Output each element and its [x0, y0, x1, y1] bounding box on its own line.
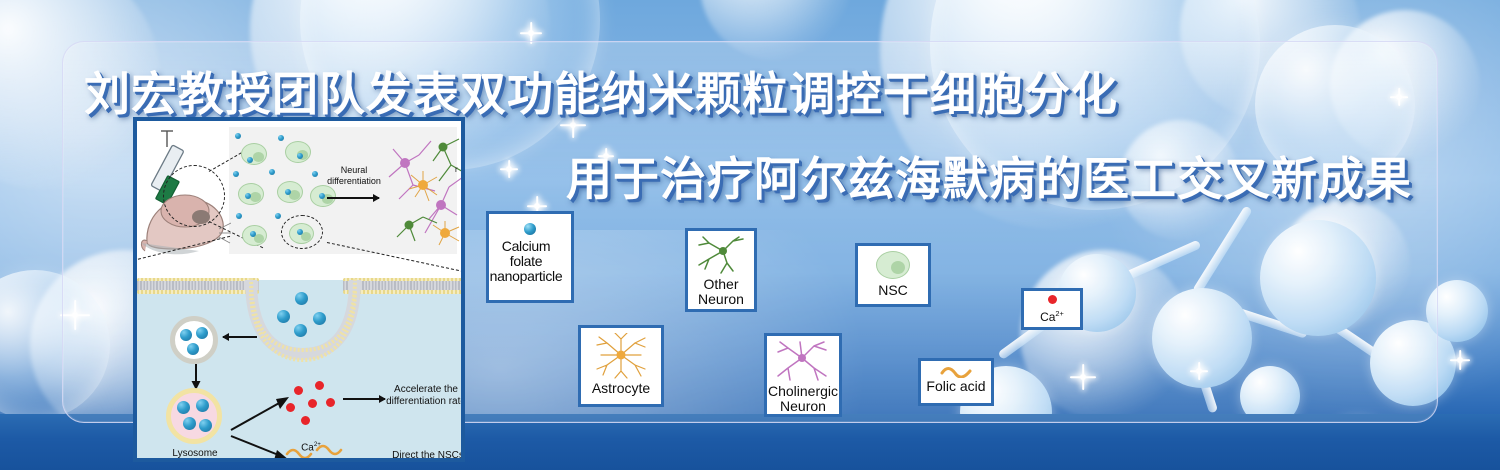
zoom-circle-cell [281, 215, 323, 249]
figure-panel-letter: r [455, 165, 458, 175]
accelerate-arrow [343, 398, 385, 400]
legend-item-calcium-ion[interactable]: Ca2+ [1021, 288, 1083, 330]
headline-line-1: 刘宏教授团队发表双功能纳米颗粒调控干细胞分化 [84, 58, 1118, 124]
legend-label: Folic acid [926, 379, 985, 394]
legend-item-other-neuron[interactable]: Other Neuron [685, 228, 757, 312]
legend-label-text: Ca [1040, 310, 1055, 324]
lysosome-label: Lysosome (pH<5.5) [153, 448, 237, 462]
maturation-arrow [190, 364, 202, 390]
legend-label-sup: 2+ [1055, 309, 1063, 318]
purple-neuron-icon [774, 340, 832, 382]
legend-label: Astrocyte [592, 381, 650, 396]
zoom-circle-head [163, 165, 225, 227]
nanoparticle-sphere-icon [524, 223, 536, 235]
green-neuron-icon [693, 235, 749, 275]
legend-label: Ca2+ [1040, 306, 1064, 325]
legend-label: Other Neuron [698, 277, 744, 307]
folic-acid-squiggle-icon [939, 366, 973, 378]
accelerate-label: Accelerate the differentiation rate [385, 384, 465, 408]
legend-item-calcium-folate-nanoparticle[interactable]: Calcium folate nanoparticle [486, 211, 574, 303]
legend-item-astrocyte[interactable]: Astrocyte [578, 325, 664, 407]
figure-bottom-panel: Lysosome (pH<5.5) Ca2+ [137, 258, 461, 458]
lysosome [166, 388, 222, 444]
neural-stem-cell-icon [876, 251, 910, 279]
headline-line-2: 用于治疗阿尔兹海默病的医工交叉新成果 [566, 143, 1412, 209]
red-dot-icon [1048, 295, 1057, 304]
legend-item-nsc[interactable]: NSC [855, 243, 931, 307]
legend-item-folic-acid[interactable]: Folic acid [918, 358, 994, 406]
endocytosis-arrow [223, 336, 257, 338]
figure-top-panel: Neural differentiation [137, 121, 461, 258]
legend-item-cholinergic-neuron[interactable]: Cholinergic Neuron [764, 333, 842, 417]
plasma-membrane-right [343, 278, 465, 294]
legend-label: NSC [878, 283, 908, 298]
membrane-invagination [245, 276, 361, 362]
plasma-membrane-left [137, 278, 259, 294]
legend-label: Cholinergic Neuron [768, 384, 838, 414]
direct-label: Direct the NSCs to cholinergic neurons [387, 450, 465, 462]
endosome-vesicle [170, 316, 218, 364]
scientific-figure: Neural differentiation [133, 117, 465, 462]
banner-root: 刘宏教授团队发表双功能纳米颗粒调控干细胞分化 用于治疗阿尔兹海默病的医工交叉新成… [0, 0, 1500, 470]
legend-label: Calcium folate nanoparticle [474, 239, 578, 284]
neuron-network-icon [379, 129, 465, 253]
differentiation-arrow [327, 197, 379, 199]
orange-astrocyte-icon [593, 333, 649, 379]
